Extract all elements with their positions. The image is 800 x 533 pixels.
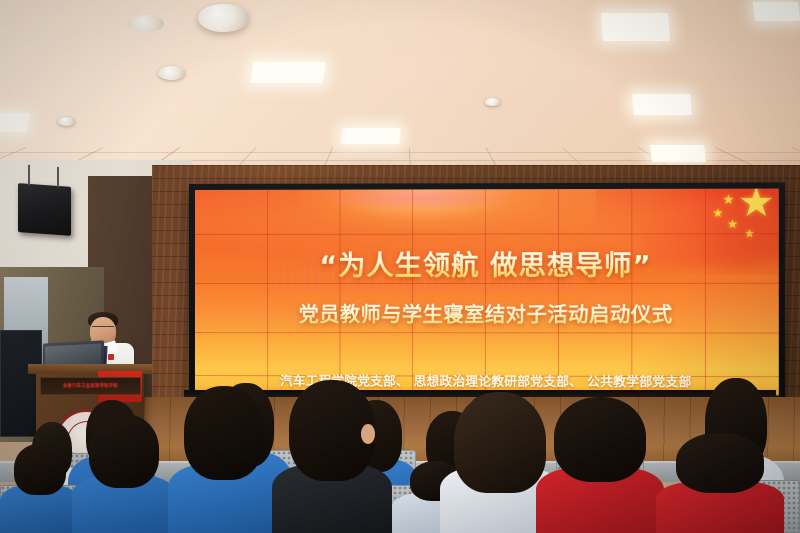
- ceiling-panel-light: [753, 2, 800, 21]
- podium-nameplate-text: 长春汽车工业高等专科学校: [63, 383, 118, 389]
- led-video-wall: ★ ★ ★ ★ ★ “为人生领航 做思想导师” 党员教师与学生寝室结对子活动启动…: [189, 182, 785, 401]
- ceiling-panel-light: [632, 94, 692, 115]
- ceiling-panel-light: [341, 128, 401, 144]
- attendee-ear: [361, 424, 375, 444]
- smoke-detector-icon: [485, 98, 500, 105]
- attendee: [272, 389, 392, 533]
- ceiling-panel-light: [251, 62, 326, 83]
- attendee-head: [89, 414, 160, 488]
- attendee: [536, 405, 664, 533]
- dome-light-fixture: [198, 4, 248, 32]
- smoke-detector-icon: [58, 117, 75, 126]
- wall-loudspeaker: [18, 184, 71, 237]
- ceiling-panel-light: [0, 113, 31, 132]
- attendee: [656, 437, 784, 533]
- party-pin-badge: [108, 354, 114, 360]
- auditorium-photo: ★ ★ ★ ★ ★ “为人生领航 做思想导师” 党员教师与学生寝室结对子活动启动…: [0, 0, 800, 533]
- attendee-head: [14, 444, 65, 495]
- attendee: [168, 394, 280, 533]
- ceiling-speaker-grille: [127, 15, 165, 32]
- attendee: [0, 448, 80, 533]
- podium-nameplate: 长春汽车工业高等专科学校: [40, 377, 141, 395]
- attendee: [72, 421, 176, 533]
- attendee-head: [184, 386, 265, 480]
- smoke-detector-icon: [158, 66, 185, 80]
- attendee-head: [554, 397, 646, 481]
- ceiling-panel-light: [601, 13, 670, 41]
- attendee-hair-long: [454, 392, 545, 493]
- led-screen-surface: ★ ★ ★ ★ ★ “为人生领航 做思想导师” 党员教师与学生寝室结对子活动启动…: [195, 188, 778, 395]
- led-wall-text-block: “为人生领航 做思想导师” 党员教师与学生寝室结对子活动启动仪式 汽车工程学院党…: [195, 188, 778, 395]
- attendee-head: [676, 433, 763, 492]
- banner-subtitle: 党员教师与学生寝室结对子活动启动仪式: [298, 297, 672, 326]
- glasses-icon: [92, 326, 114, 331]
- banner-title: “为人生领航 做思想导师”: [319, 244, 651, 284]
